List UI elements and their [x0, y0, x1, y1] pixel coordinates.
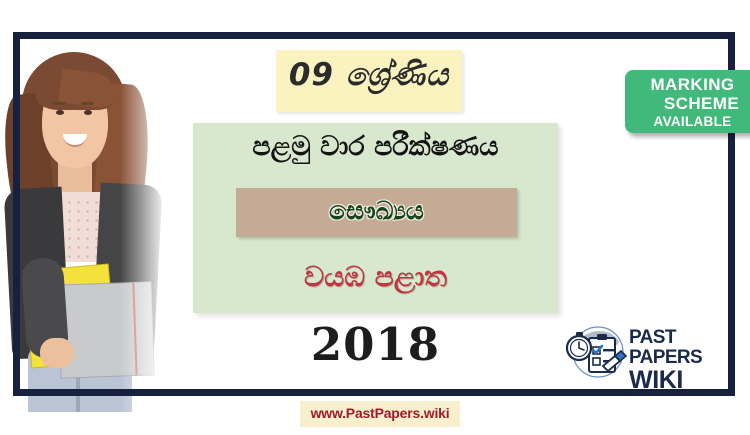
clipboard-stopwatch-pencil-icon — [563, 322, 629, 382]
past-papers-wiki-logo[interactable]: PAST PAPERS WIKI — [563, 322, 735, 384]
brand-line-past-papers: PAST PAPERS — [629, 328, 735, 368]
badge-line-scheme: SCHEME — [625, 94, 750, 113]
marking-scheme-badge[interactable]: MARKING SCHEME AVAILABLE — [625, 70, 750, 133]
brand-line-wiki: WIKI — [629, 368, 735, 393]
badge-line-marking: MARKING — [625, 75, 750, 94]
brand-wordmark: PAST PAPERS WIKI — [629, 328, 735, 393]
footer-url-label[interactable]: www.PastPapers.wiki — [300, 405, 460, 421]
grade-label: 09 ශ්‍රේණිය — [262, 57, 476, 94]
badge-line-available: AVAILABLE — [625, 113, 750, 130]
exam-paper-cover-poster: 09 ශ්‍රේණිය පළමු වාර පරීක්ෂණය සෞඛ්‍යය වය… — [0, 0, 750, 435]
province-label: වයඹ පළාත — [193, 260, 558, 294]
exam-title-label: පළමු වාර පරීක්ෂණය — [193, 131, 558, 163]
subject-label: සෞඛ්‍යය — [236, 196, 517, 226]
year-label: 2018 — [193, 318, 558, 371]
